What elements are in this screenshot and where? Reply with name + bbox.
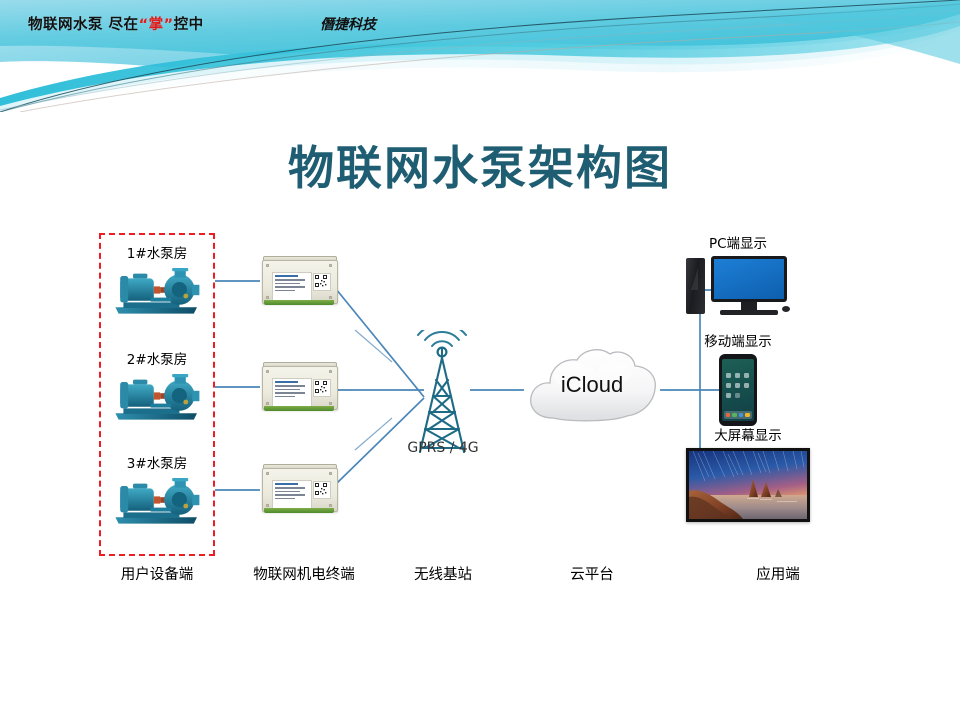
brand-name: 僭捷科技 <box>320 14 376 34</box>
water-pump-icon <box>109 371 205 425</box>
banner-headline-prefix: 物联网水泵 尽在 <box>28 17 139 33</box>
device-label <box>272 480 312 509</box>
page-title: 物联网水泵架构图 <box>0 132 960 198</box>
application-large-display: 大屏幕显示 <box>678 424 818 522</box>
device-label <box>272 378 312 407</box>
cloud-label: iCloud <box>519 372 665 398</box>
qr-code-icon <box>313 379 331 397</box>
iot-terminal-2 <box>262 362 336 412</box>
user-device-1-label: 1#水泵房 <box>99 242 215 262</box>
user-device-2-label: 2#水泵房 <box>99 348 215 368</box>
caption-base-station: 无线基站 <box>383 563 503 584</box>
application-pc: PC端显示 <box>678 232 798 318</box>
water-pump-icon <box>109 475 205 529</box>
desktop-computer-icon <box>686 256 790 318</box>
banner-headline-highlight: “掌” <box>139 17 174 33</box>
user-device-2: 2#水泵房 <box>99 348 215 425</box>
banner-headline: 物联网水泵 尽在“掌”控中 <box>28 13 204 34</box>
caption-cloud: 云平台 <box>532 563 652 584</box>
header-banner: 物联网水泵 尽在“掌”控中 僭捷科技 <box>0 0 960 112</box>
caption-user-devices: 用户设备端 <box>97 563 217 584</box>
smartphone-icon <box>719 354 757 426</box>
caption-iot-terminals: 物联网机电终端 <box>224 563 384 584</box>
user-device-3: 3#水泵房 <box>99 452 215 529</box>
large-display-icon <box>686 448 810 522</box>
architecture-diagram: 1#水泵房 <box>0 212 960 612</box>
user-device-3-label: 3#水泵房 <box>99 452 215 472</box>
banner-headline-suffix: 控中 <box>174 17 204 33</box>
qr-code-icon <box>313 273 331 291</box>
iot-terminal-1 <box>262 256 336 306</box>
user-device-1: 1#水泵房 <box>99 242 215 319</box>
caption-applications: 应用端 <box>718 563 838 584</box>
iot-terminal-3 <box>262 464 336 514</box>
water-pump-icon <box>109 265 205 319</box>
device-label <box>272 272 312 301</box>
application-pc-label: PC端显示 <box>678 232 798 252</box>
application-large-display-label: 大屏幕显示 <box>678 424 818 444</box>
display-wallpaper <box>689 451 807 519</box>
base-station-label: GPRS / 4G <box>383 440 503 456</box>
application-mobile: 移动端显示 <box>678 330 798 426</box>
application-mobile-label: 移动端显示 <box>678 330 798 350</box>
qr-code-icon <box>313 481 331 499</box>
